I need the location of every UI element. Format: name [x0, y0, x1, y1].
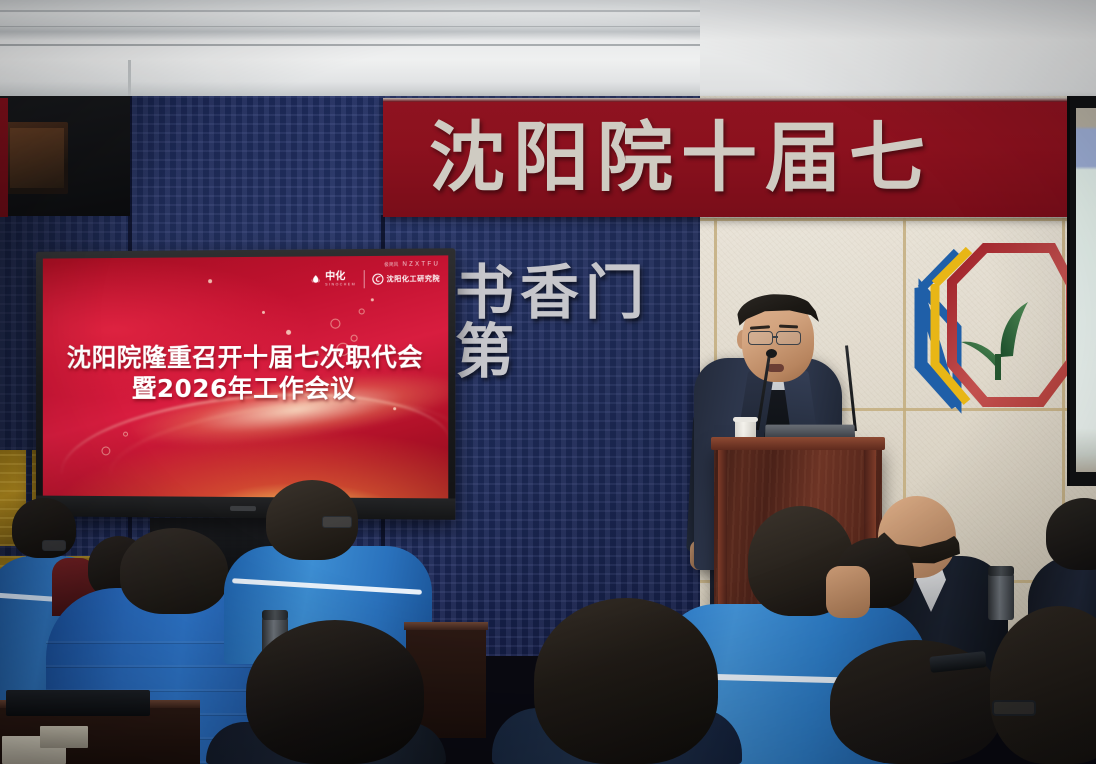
wall-sign-text: 书香门第: [455, 263, 705, 381]
slide-title: 沈阳院隆重召开十届七次职代会 暨2026年工作会议: [43, 342, 448, 404]
display-bezel: [36, 496, 455, 520]
hexagon-sprout-logo: [895, 232, 1080, 422]
audience-hair: [246, 620, 424, 764]
institute-mark-icon: [371, 273, 383, 285]
speaker-eyeglasses: [748, 331, 773, 345]
podium-top-edge: [711, 437, 885, 450]
slide-title-line1: 沈阳院隆重召开十届七次职代会: [43, 342, 448, 373]
thermos: [988, 572, 1014, 620]
document: [40, 726, 88, 748]
audience-hair: [120, 528, 228, 614]
display-panel[interactable]: 极简风 NZXTFU 中化 SINOCHEM: [36, 248, 455, 520]
institute-logo-text: 沈阳化工研究院: [387, 275, 441, 282]
tablet-device[interactable]: [6, 690, 150, 716]
audience-eyeglasses: [992, 700, 1036, 716]
audience-eyeglasses: [322, 516, 352, 528]
audience-eyeglasses: [42, 540, 66, 551]
sinochem-mark-icon: [309, 273, 322, 286]
slide-logo-group: 极简风 NZXTFU 中化 SINOCHEM: [309, 262, 440, 289]
slide-watermark: 极简风 NZXTFU: [384, 262, 440, 268]
ceiling-soffit: [700, 0, 1096, 100]
red-banner: 沈阳院十届七: [383, 98, 1096, 217]
audience-hair: [534, 598, 718, 764]
display-screen[interactable]: 极简风 NZXTFU 中化 SINOCHEM: [43, 255, 448, 498]
banner-title: 沈阳院十届七: [429, 120, 933, 196]
conference-photo-scene: 沈阳院十届七 书香门第: [0, 0, 1096, 764]
wall-sign: 书香门第: [455, 277, 705, 367]
display-control-button[interactable]: [230, 506, 256, 511]
sinochem-logo: 中化 SINOCHEM: [309, 272, 356, 286]
sinochem-logo-subtext: SINOCHEM: [325, 282, 356, 286]
secondary-projection-screen: [1067, 96, 1096, 486]
sinochem-logo-text: 中化: [325, 272, 356, 282]
slide-title-line2: 暨2026年工作会议: [43, 373, 448, 404]
institute-logo: 沈阳化工研究院: [371, 273, 440, 286]
audience-hand: [826, 566, 870, 618]
